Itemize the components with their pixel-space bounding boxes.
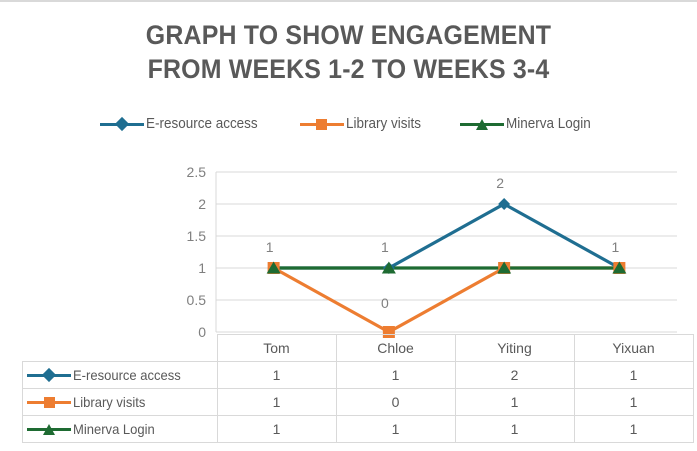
- table-cell: 1: [336, 416, 455, 443]
- data-point-marker: [613, 262, 625, 274]
- chart-legend: E-resource access Library visits Minerva…: [0, 116, 697, 132]
- y-axis-tick-label: 2: [198, 196, 206, 212]
- data-point-marker: [613, 262, 625, 274]
- table-series-cell: Library visits: [23, 389, 218, 416]
- table-column-header: Yiting: [455, 335, 574, 362]
- data-label: 1: [381, 239, 389, 255]
- data-label: 2: [496, 175, 504, 191]
- chart-data-table: TomChloeYitingYixuanE-resource access112…: [22, 334, 694, 443]
- table-cell: 1: [574, 389, 693, 416]
- table-series-cell: E-resource access: [23, 362, 218, 389]
- table-row: Library visits1011: [23, 389, 694, 416]
- table-legend-marker-icon: [27, 394, 71, 410]
- data-label: 0: [381, 295, 389, 311]
- legend-entry-library-visits[interactable]: Library visits: [300, 116, 427, 132]
- data-point-marker: [268, 262, 280, 274]
- chart-container: GRAPH TO SHOW ENGAGEMENT FROM WEEKS 1-2 …: [0, 0, 697, 449]
- series-line: [274, 268, 620, 332]
- table-series-label: Library visits: [73, 394, 145, 410]
- legend-entry-minerva-login[interactable]: Minerva Login: [460, 116, 597, 132]
- y-axis-tick-label: 1: [198, 260, 206, 276]
- table-cell: 1: [574, 416, 693, 443]
- legend-entry-e-resource-access[interactable]: E-resource access: [100, 116, 266, 132]
- data-point-marker: [267, 262, 281, 274]
- table-legend-marker-icon: [27, 421, 71, 437]
- data-point-marker: [497, 262, 511, 274]
- table-cell: 0: [336, 389, 455, 416]
- legend-marker-diamond-icon: [100, 116, 144, 132]
- data-label: 1: [266, 239, 274, 255]
- table-corner-cell: [23, 335, 218, 362]
- data-point-marker: [268, 262, 280, 274]
- data-point-marker: [612, 262, 626, 274]
- table-cell: 1: [217, 416, 336, 443]
- table-series-cell: Minerva Login: [23, 416, 218, 443]
- data-point-marker: [382, 262, 396, 274]
- table-header-row: TomChloeYitingYixuan: [23, 335, 694, 362]
- legend-label-minerva-login: Minerva Login: [506, 116, 591, 132]
- table-cell: 1: [455, 416, 574, 443]
- legend-label-e-resource-access: E-resource access: [146, 116, 258, 132]
- table-cell: 1: [217, 362, 336, 389]
- table-series-label: E-resource access: [73, 367, 181, 383]
- y-axis-tick-label: 2.5: [187, 164, 207, 180]
- table-cell: 1: [574, 362, 693, 389]
- table-column-header: Tom: [217, 335, 336, 362]
- y-axis-tick-label: 0.5: [187, 292, 207, 308]
- table-series-label: Minerva Login: [73, 421, 155, 437]
- table-row: E-resource access1121: [23, 362, 694, 389]
- table-cell: 1: [336, 362, 455, 389]
- data-point-marker: [383, 262, 395, 274]
- series-line: [274, 204, 620, 268]
- table-column-header: Yixuan: [574, 335, 693, 362]
- table-row: Minerva Login1111: [23, 416, 694, 443]
- y-axis-tick-label: 1.5: [187, 228, 207, 244]
- table-cell: 2: [455, 362, 574, 389]
- data-point-marker: [498, 262, 510, 274]
- table-cell: 1: [455, 389, 574, 416]
- legend-marker-triangle-icon: [460, 116, 504, 132]
- chart-title: GRAPH TO SHOW ENGAGEMENT FROM WEEKS 1-2 …: [59, 18, 639, 86]
- data-point-marker: [498, 198, 510, 210]
- table-legend-marker-icon: [27, 367, 71, 383]
- table-cell: 1: [217, 389, 336, 416]
- data-label: 1: [611, 239, 619, 255]
- legend-marker-square-icon: [300, 116, 344, 132]
- table-column-header: Chloe: [336, 335, 455, 362]
- legend-label-library-visits: Library visits: [346, 116, 421, 132]
